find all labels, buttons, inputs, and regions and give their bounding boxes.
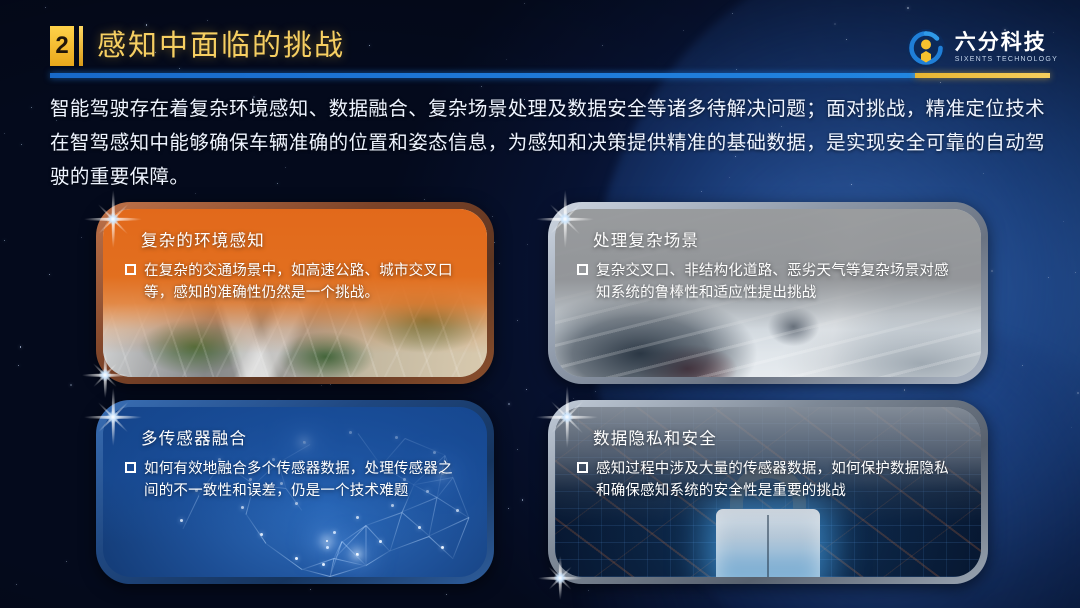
card-screen: 处理复杂场景 复杂交叉口、非结构化道路、恶劣天气等复杂场景对感知系统的鲁棒性和适… bbox=[555, 209, 981, 377]
challenge-card-handle-complex-scenes[interactable]: 处理复杂场景 复杂交叉口、非结构化道路、恶劣天气等复杂场景对感知系统的鲁棒性和适… bbox=[548, 202, 988, 384]
bullet-square-icon bbox=[125, 264, 136, 275]
section-heading: 2 感知中面临的挑战 bbox=[50, 26, 345, 66]
card-screen: 数据隐私和安全 感知过程中涉及大量的传感器数据，如何保护数据隐私和确保感知系统的… bbox=[555, 407, 981, 577]
bullet-square-icon bbox=[125, 462, 136, 473]
brand-name-en: SIXENTS TECHNOLOGY bbox=[955, 56, 1058, 63]
card-bullet: 在复杂的交通场景中，如高速公路、城市交叉口等，感知的准确性仍然是一个挑战。 bbox=[125, 260, 465, 304]
lead-paragraph: 智能驾驶存在着复杂环境感知、数据融合、复杂场景处理及数据安全等诸多待解决问题；面… bbox=[50, 92, 1050, 194]
challenge-card-data-privacy-and-security[interactable]: 数据隐私和安全 感知过程中涉及大量的传感器数据，如何保护数据隐私和确保感知系统的… bbox=[548, 400, 988, 584]
section-number-badge: 2 bbox=[50, 26, 74, 66]
slide-root: 2 感知中面临的挑战 六分科技 SIXENTS TECHNOLOGY bbox=[0, 0, 1080, 608]
bullet-square-icon bbox=[577, 462, 588, 473]
card-bullet-text: 复杂交叉口、非结构化道路、恶劣天气等复杂场景对感知系统的鲁棒性和适应性提出挑战 bbox=[596, 260, 959, 304]
challenge-card-grid: 复杂的环境感知 在复杂的交通场景中，如高速公路、城市交叉口等，感知的准确性仍然是… bbox=[96, 202, 988, 584]
challenge-card-multi-sensor-fusion[interactable]: 多传感器融合 如何有效地融合多个传感器数据，处理传感器之间的不一致性和误差，仍是… bbox=[96, 400, 494, 584]
brand-logo: 六分科技 SIXENTS TECHNOLOGY bbox=[906, 28, 1058, 68]
brand-logo-text: 六分科技 SIXENTS TECHNOLOGY bbox=[955, 32, 1058, 65]
card-bullet-text: 感知过程中涉及大量的传感器数据，如何保护数据隐私和确保感知系统的安全性是重要的挑… bbox=[596, 458, 959, 502]
header-divider-blue bbox=[50, 73, 915, 78]
card-text-block: 数据隐私和安全 感知过程中涉及大量的传感器数据，如何保护数据隐私和确保感知系统的… bbox=[555, 407, 981, 502]
section-number-bar bbox=[79, 26, 83, 66]
sixents-logo-icon bbox=[906, 28, 946, 68]
page-title: 感知中面临的挑战 bbox=[97, 26, 345, 66]
challenge-card-complex-environment-perception[interactable]: 复杂的环境感知 在复杂的交通场景中，如高速公路、城市交叉口等，感知的准确性仍然是… bbox=[96, 202, 494, 384]
card-bullet: 复杂交叉口、非结构化道路、恶劣天气等复杂场景对感知系统的鲁棒性和适应性提出挑战 bbox=[577, 260, 959, 304]
card-bullet-text: 如何有效地融合多个传感器数据，处理传感器之间的不一致性和误差，仍是一个技术难题 bbox=[144, 458, 465, 502]
card-title: 复杂的环境感知 bbox=[141, 227, 465, 251]
header-divider bbox=[50, 73, 1050, 78]
card-bullet: 如何有效地融合多个传感器数据，处理传感器之间的不一致性和误差，仍是一个技术难题 bbox=[125, 458, 465, 502]
card-title: 数据隐私和安全 bbox=[593, 425, 959, 449]
card-text-block: 处理复杂场景 复杂交叉口、非结构化道路、恶劣天气等复杂场景对感知系统的鲁棒性和适… bbox=[555, 209, 981, 304]
slide-header: 2 感知中面临的挑战 六分科技 SIXENTS TECHNOLOGY bbox=[0, 0, 1080, 84]
card-title: 多传感器融合 bbox=[141, 425, 465, 449]
card-text-block: 复杂的环境感知 在复杂的交通场景中，如高速公路、城市交叉口等，感知的准确性仍然是… bbox=[103, 209, 487, 304]
header-divider-gold bbox=[915, 73, 1050, 78]
bullet-square-icon bbox=[577, 264, 588, 275]
card-text-block: 多传感器融合 如何有效地融合多个传感器数据，处理传感器之间的不一致性和误差，仍是… bbox=[103, 407, 487, 502]
card-screen: 多传感器融合 如何有效地融合多个传感器数据，处理传感器之间的不一致性和误差，仍是… bbox=[103, 407, 487, 577]
card-bullet-text: 在复杂的交通场景中，如高速公路、城市交叉口等，感知的准确性仍然是一个挑战。 bbox=[144, 260, 465, 304]
card-title: 处理复杂场景 bbox=[593, 227, 959, 251]
card-screen: 复杂的环境感知 在复杂的交通场景中，如高速公路、城市交叉口等，感知的准确性仍然是… bbox=[103, 209, 487, 377]
card-bullet: 感知过程中涉及大量的传感器数据，如何保护数据隐私和确保感知系统的安全性是重要的挑… bbox=[577, 458, 959, 502]
brand-name-cn: 六分科技 bbox=[955, 32, 1058, 53]
